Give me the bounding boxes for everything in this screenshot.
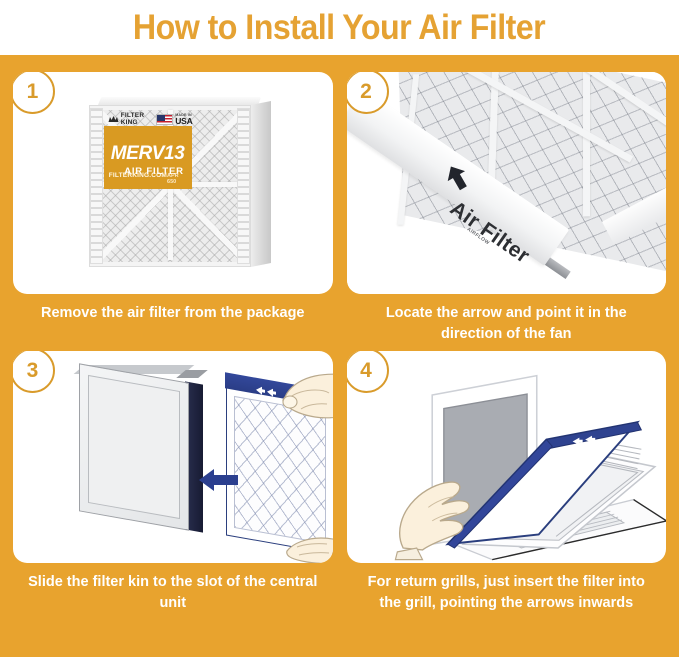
brand-text: FILTER KING bbox=[121, 113, 144, 127]
steps-grid: FILTER KING MADE IN USA bbox=[0, 55, 679, 657]
how-to-install-air-filter-infographic: How to Install Your Air Filter bbox=[0, 0, 679, 657]
return-grill-insert-illustration bbox=[347, 351, 667, 563]
frame-brace-3 bbox=[583, 72, 590, 216]
website-text: FILTERKING.COM bbox=[109, 172, 167, 179]
step-3-caption: Slide the filter kin to the slot of the … bbox=[13, 563, 333, 613]
central-unit-face bbox=[79, 363, 189, 530]
step-1-panel: FILTER KING MADE IN USA bbox=[13, 72, 333, 294]
merv-rating: MERV13 bbox=[109, 143, 187, 165]
crown-logo-icon bbox=[108, 114, 119, 125]
merv13-boxed-filter-photo: FILTER KING MADE IN USA bbox=[13, 72, 333, 294]
filter-front-face: FILTER KING MADE IN USA bbox=[89, 105, 251, 267]
filter-photo: FILTER KING MADE IN USA bbox=[89, 97, 271, 273]
filter-right-edge bbox=[237, 108, 250, 264]
page-title: How to Install Your Air Filter bbox=[133, 8, 545, 48]
slide-filter-into-unit-illustration bbox=[13, 351, 333, 563]
made-in-usa-mark: MADE IN USA bbox=[156, 114, 192, 126]
filter-frame-corner: Air Filter AIRFLOW bbox=[368, 72, 666, 294]
step-1-number: 1 bbox=[27, 81, 39, 102]
step-4-number: 4 bbox=[360, 360, 372, 381]
step-3: 3 Slide the filter kin to the slot of th… bbox=[13, 351, 333, 649]
step-4-caption: For return grills, just insert the filte… bbox=[347, 563, 667, 613]
return-grill-scene bbox=[347, 351, 667, 563]
step-3-panel: 3 bbox=[13, 351, 333, 563]
central-unit-inner-panel bbox=[88, 375, 180, 519]
filter-left-edge bbox=[90, 108, 103, 264]
step-4-panel: 4 bbox=[347, 351, 667, 563]
step-2-panel: Air Filter AIRFLOW 2 bbox=[347, 72, 667, 294]
us-flag-icon bbox=[156, 114, 173, 125]
step-3-number: 3 bbox=[27, 360, 39, 381]
filter-side-depth bbox=[251, 101, 271, 267]
insert-direction-arrow-icon bbox=[199, 467, 239, 493]
brand-row: FILTER KING MADE IN USA bbox=[108, 113, 234, 127]
filter-king-logo: FILTER KING bbox=[108, 113, 144, 127]
product-gold-label: MERV13 AIR FILTER FILTERKING.COM APR 650 bbox=[104, 126, 192, 189]
step-1: FILTER KING MADE IN USA bbox=[13, 72, 333, 347]
hand-holding-filter-bottom bbox=[285, 535, 333, 563]
label-footer: FILTERKING.COM APR 650 bbox=[109, 172, 188, 185]
filter-frame-arrow-photo: Air Filter AIRFLOW bbox=[347, 72, 667, 294]
country-label: USA bbox=[175, 117, 192, 126]
step-1-caption: Remove the air filter from the package bbox=[13, 294, 333, 324]
step-2-caption: Locate the arrow and point it in the dir… bbox=[347, 294, 667, 344]
step-2-number: 2 bbox=[360, 81, 372, 102]
usa-text-block: MADE IN USA bbox=[175, 114, 192, 126]
brand-line-2: KING bbox=[121, 119, 138, 126]
hand-holding-filter-top bbox=[271, 369, 333, 427]
step-2: Air Filter AIRFLOW 2 Locate the arrow an… bbox=[347, 72, 667, 347]
title-bar: How to Install Your Air Filter bbox=[0, 0, 679, 55]
apr-text: APR 650 bbox=[167, 173, 188, 185]
step-4: 4 For return grills, just insert the fil… bbox=[347, 351, 667, 649]
